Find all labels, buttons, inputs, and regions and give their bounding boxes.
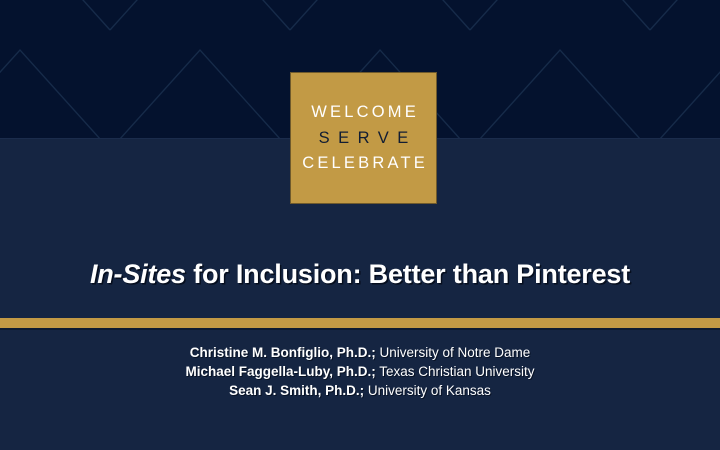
page-title: In-Sites for Inclusion: Better than Pint…: [0, 259, 720, 290]
title-rest: for Inclusion: Better than Pinterest: [186, 259, 630, 289]
author-line: Michael Faggella-Luby, Ph.D.; Texas Chri…: [0, 362, 720, 381]
author-affiliation: Texas Christian University: [376, 364, 535, 379]
welcome-serve-celebrate-logo: WELCOME SERVE CELEBRATE: [290, 72, 437, 204]
title-emphasis: In-Sites: [90, 259, 186, 289]
logo-line-serve: SERVE: [310, 130, 417, 147]
author-affiliation: University of Kansas: [364, 383, 491, 398]
author-name: Sean J. Smith, Ph.D.;: [229, 383, 364, 398]
author-line: Christine M. Bonfiglio, Ph.D.; Universit…: [0, 343, 720, 362]
author-credits: Christine M. Bonfiglio, Ph.D.; Universit…: [0, 343, 720, 400]
logo-line-welcome: WELCOME: [308, 104, 419, 121]
logo-line-celebrate: CELEBRATE: [299, 155, 428, 172]
presentation-title-slide: WELCOME SERVE CELEBRATE In-Sites for Inc…: [0, 0, 720, 450]
author-name: Michael Faggella-Luby, Ph.D.;: [185, 364, 375, 379]
author-affiliation: University of Notre Dame: [376, 345, 531, 360]
author-name: Christine M. Bonfiglio, Ph.D.;: [190, 345, 376, 360]
author-line: Sean J. Smith, Ph.D.; University of Kans…: [0, 381, 720, 400]
gold-divider-shadow: [0, 328, 720, 330]
gold-divider-rule: [0, 318, 720, 328]
